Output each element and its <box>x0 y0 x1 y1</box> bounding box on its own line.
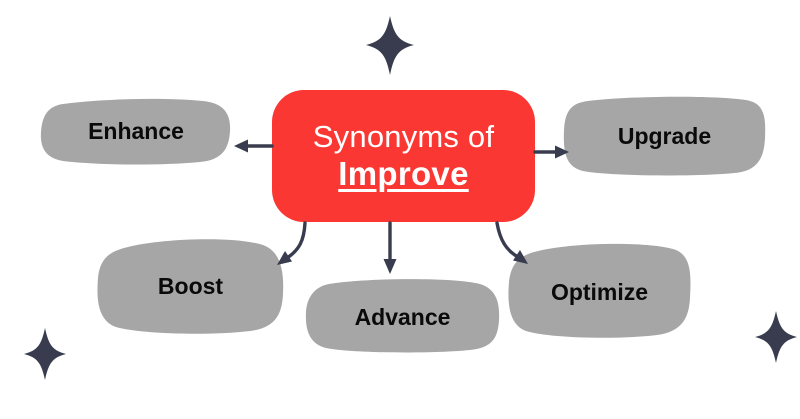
arrow-to-boost <box>277 223 305 265</box>
branch-shape-advance[interactable] <box>306 279 499 352</box>
sparkle-bottom-right-icon <box>755 311 797 363</box>
central-node-line2: Improve <box>338 156 468 192</box>
arrow-to-optimize <box>497 223 528 264</box>
arrow-to-advance <box>384 223 397 274</box>
arrow-to-upgrade <box>535 146 569 159</box>
central-node-label: Synonyms of Improve <box>272 90 535 222</box>
branch-shape-boost[interactable] <box>97 239 283 334</box>
sparkle-top-icon <box>366 16 414 75</box>
sparkle-bottom-left-icon <box>24 328 66 380</box>
central-node-line1: Synonyms of <box>313 120 494 153</box>
diagram-canvas: Synonyms of Improve Enhance Upgrade Boos… <box>0 0 800 419</box>
branch-shape-optimize[interactable] <box>508 244 690 338</box>
branch-shape-upgrade[interactable] <box>564 97 765 176</box>
arrow-to-enhance <box>234 140 272 153</box>
branch-shape-enhance[interactable] <box>41 99 230 165</box>
